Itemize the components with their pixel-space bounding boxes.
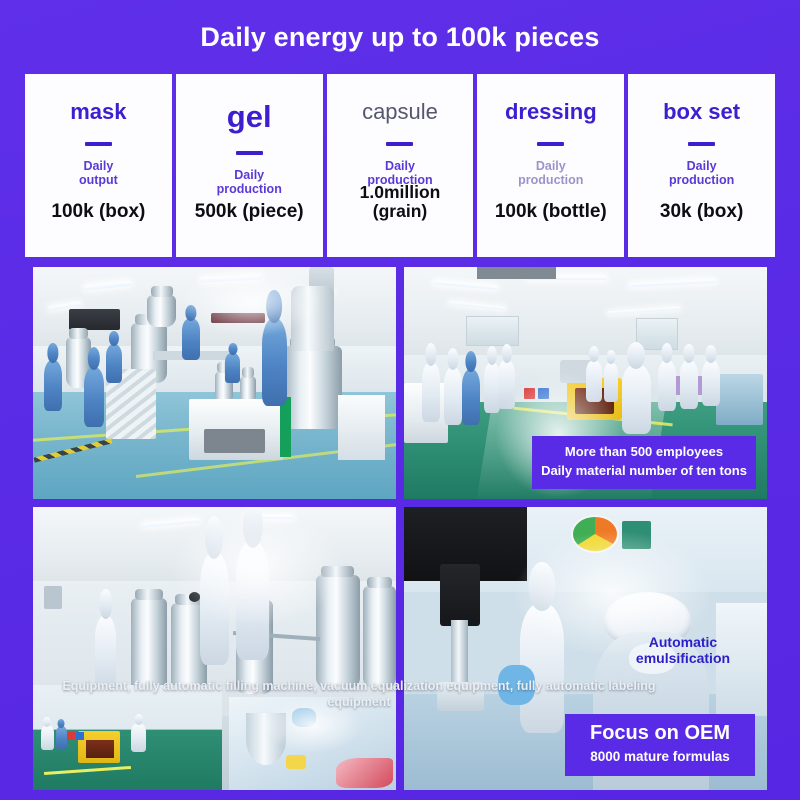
floor-guide-line <box>44 766 131 775</box>
worker-blue <box>106 344 122 383</box>
signage-panel <box>211 313 265 322</box>
card-subtitle-gel: Daily production <box>217 168 282 197</box>
card-subtitle-line1: Daily <box>518 159 583 173</box>
poster-header: Daily energy up to 100k pieces <box>0 0 800 74</box>
vacuum-emulsifier-head <box>291 286 335 351</box>
card-subtitle-line2: production <box>518 173 583 187</box>
worker-white <box>422 362 440 422</box>
spec-card-row: mask Daily output 100k (box) gel Daily p… <box>0 74 800 257</box>
worker-blue <box>44 360 62 411</box>
red-bin <box>67 732 75 739</box>
badge-oem-line2: 8000 mature formulas <box>571 750 749 765</box>
card-value-box-set: 30k (box) <box>628 201 775 222</box>
badge-employees-line2: Daily material number of ten tons <box>538 464 750 479</box>
factory-photo-grid: More than 500 employees Daily material n… <box>33 267 767 790</box>
worker-white <box>131 723 146 752</box>
caption-line1: Automatic <box>617 635 749 651</box>
card-title-gel: gel <box>227 101 272 132</box>
worker-blue <box>56 726 67 749</box>
card-title-box-set: box set <box>663 101 740 123</box>
card-subtitle-box-set: Daily production <box>669 159 734 188</box>
spec-card-box-set: box set Daily production 30k (box) <box>628 74 775 257</box>
photo-mixing-tank-room <box>33 507 396 790</box>
inspection-booth <box>716 374 763 425</box>
card-divider-rule <box>386 142 413 146</box>
page-title: Daily energy up to 100k pieces <box>200 24 599 51</box>
mixing-tank <box>283 346 341 430</box>
overhead-unit <box>69 309 120 330</box>
red-bin <box>524 388 535 400</box>
card-subtitle-line2: production <box>669 173 734 187</box>
promo-poster: Daily energy up to 100k pieces mask Dail… <box>0 0 800 800</box>
card-title-mask: mask <box>70 101 126 123</box>
worker-white <box>444 367 462 425</box>
blue-bin <box>538 388 549 400</box>
worker-blue <box>462 369 480 425</box>
gauge <box>189 592 200 602</box>
card-value-dressing: 100k (bottle) <box>477 201 624 222</box>
worker-white <box>658 360 676 411</box>
badge-employees: More than 500 employees Daily material n… <box>532 436 756 489</box>
worker-blue <box>225 353 240 383</box>
worker-white <box>586 360 602 402</box>
rotary-indicator-dial <box>571 515 619 553</box>
glove <box>292 708 315 727</box>
pink-product <box>336 758 393 788</box>
card-subtitle-mask: Daily output <box>79 159 118 188</box>
caption-line2: emulsification <box>617 651 749 667</box>
card-subtitle-line1: Daily <box>217 168 282 182</box>
worker-white <box>498 360 514 409</box>
card-divider-rule <box>537 142 564 146</box>
worker-white <box>702 360 720 406</box>
worker-white <box>236 541 269 660</box>
photo-filling-line: Automatic emulsification Focus on OEM 80… <box>404 507 767 790</box>
photo-packaging-hall: More than 500 employees Daily material n… <box>404 267 767 499</box>
ceiling-duct <box>477 267 557 279</box>
card-value-gel: 500k (piece) <box>176 201 323 222</box>
card-value-capsule: 1.0million (grain) <box>327 183 474 222</box>
card-divider-rule <box>236 151 263 155</box>
card-value-line2: (grain) <box>327 202 474 222</box>
card-subtitle-line2: output <box>79 173 118 187</box>
worker-white <box>200 552 229 665</box>
badge-employees-line1: More than 500 employees <box>538 445 750 459</box>
card-divider-rule <box>85 142 112 146</box>
mixing-tank <box>363 586 396 688</box>
spec-card-capsule: capsule Daily production 1.0million (gra… <box>327 74 474 257</box>
card-subtitle-line2: production <box>217 182 282 196</box>
card-divider-rule <box>688 142 715 146</box>
worker-white <box>680 360 698 409</box>
inset-filling-closeup <box>229 697 396 790</box>
filling-nozzle-head <box>440 564 480 626</box>
wall-window <box>466 316 519 346</box>
card-subtitle-line1: Daily <box>669 159 734 173</box>
mixing-tank-head <box>147 295 176 327</box>
worker-blue <box>84 367 104 427</box>
worker-blue <box>182 318 200 360</box>
card-title-dressing: dressing <box>505 101 597 123</box>
photo-emulsifier-workshop <box>33 267 396 499</box>
mixing-tank <box>316 575 360 688</box>
spec-card-dressing: dressing Daily production 100k (bottle) <box>477 74 624 257</box>
wall-panel <box>44 586 62 609</box>
filling-hopper <box>246 713 286 764</box>
card-title-capsule: capsule <box>362 101 438 123</box>
card-value-line1: 1.0million <box>327 183 474 203</box>
spec-card-mask: mask Daily output 100k (box) <box>25 74 172 257</box>
badge-oem-line1: Focus on OEM <box>571 723 749 744</box>
blue-bin <box>76 732 84 739</box>
equipment-cabinet <box>338 395 385 460</box>
card-subtitle-dressing: Daily production <box>518 159 583 188</box>
spec-card-gel: gel Daily production 500k (piece) <box>176 74 323 257</box>
card-subtitle-line1: Daily <box>367 159 432 173</box>
oven-opening <box>86 740 114 758</box>
badge-focus-on-oem: Focus on OEM 8000 mature formulas <box>565 714 755 776</box>
card-value-mask: 100k (box) <box>25 201 172 222</box>
worker-white <box>604 362 619 401</box>
machine-light-green <box>622 521 651 549</box>
worker-white <box>41 725 54 750</box>
caption-automatic-emulsification: Automatic emulsification <box>617 635 749 666</box>
card-subtitle-line1: Daily <box>79 159 118 173</box>
caption-equipment-description: Equipment, fully automatic filling machi… <box>33 679 685 710</box>
worker-white-foreground <box>622 364 651 434</box>
yellow-component <box>286 755 306 770</box>
worker-blue <box>262 318 287 406</box>
base-cavity <box>204 429 266 452</box>
